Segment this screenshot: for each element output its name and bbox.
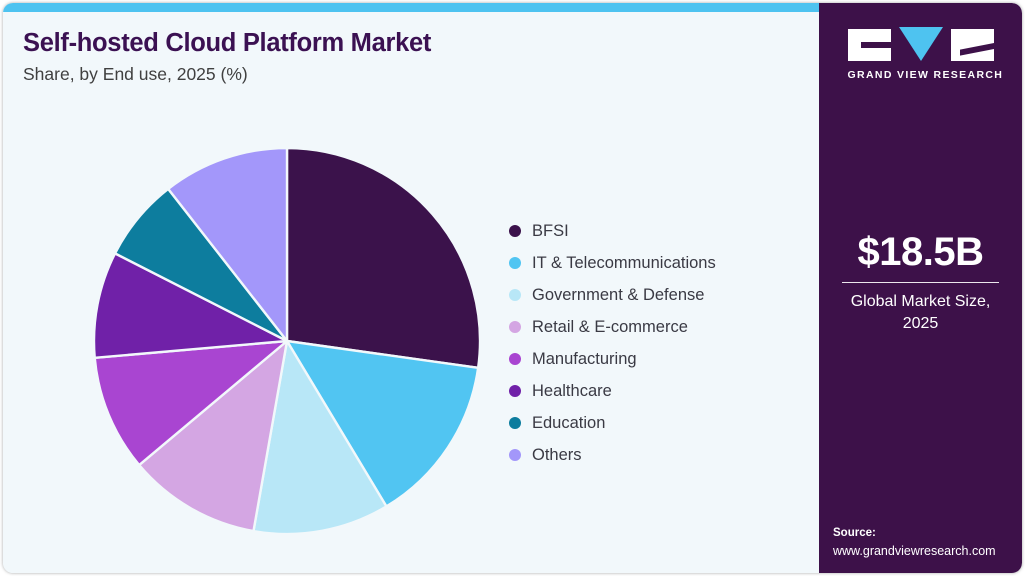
pie-slice[interactable]	[287, 148, 480, 368]
brand-panel: GRAND VIEW RESEARCH $18.5B Global Market…	[819, 3, 1022, 573]
legend-swatch-icon	[509, 385, 521, 397]
legend-swatch-icon	[509, 225, 521, 237]
legend-item-label: IT & Telecommunications	[532, 254, 716, 273]
logo-letter-g-icon	[848, 29, 891, 61]
legend-item-label: Manufacturing	[532, 350, 637, 369]
chart-legend: BFSIIT & TelecommunicationsGovernment & …	[509, 215, 809, 471]
source-label: Source:	[833, 525, 996, 542]
accent-top-bar	[3, 3, 819, 12]
legend-item[interactable]: IT & Telecommunications	[509, 247, 809, 279]
legend-item-label: Retail & E-commerce	[532, 318, 688, 337]
legend-item-label: Education	[532, 414, 605, 433]
legend-item[interactable]: Healthcare	[509, 375, 809, 407]
legend-swatch-icon	[509, 321, 521, 333]
legend-item[interactable]: Others	[509, 439, 809, 471]
gvr-logo: GRAND VIEW RESEARCH	[848, 29, 994, 81]
brand-name: GRAND VIEW RESEARCH	[848, 69, 994, 81]
legend-swatch-icon	[509, 417, 521, 429]
source-url[interactable]: www.grandviewresearch.com	[833, 542, 996, 560]
legend-item-label: BFSI	[532, 222, 569, 241]
legend-item[interactable]: Government & Defense	[509, 279, 809, 311]
infographic-card: Self-hosted Cloud Platform Market Share,…	[3, 3, 1022, 573]
page-title: Self-hosted Cloud Platform Market	[23, 29, 431, 58]
legend-item-label: Healthcare	[532, 382, 612, 401]
legend-swatch-icon	[509, 289, 521, 301]
market-size-stat: $18.5B Global Market Size, 2025	[819, 231, 1022, 334]
legend-item[interactable]: Education	[509, 407, 809, 439]
market-size-value: $18.5B	[833, 231, 1008, 273]
legend-item-label: Others	[532, 446, 582, 465]
legend-item-label: Government & Defense	[532, 286, 704, 305]
legend-item[interactable]: Manufacturing	[509, 343, 809, 375]
legend-item[interactable]: BFSI	[509, 215, 809, 247]
legend-swatch-icon	[509, 257, 521, 269]
chart-panel: Self-hosted Cloud Platform Market Share,…	[3, 12, 819, 573]
stat-divider	[842, 282, 999, 283]
pie-slice-group	[94, 148, 480, 534]
legend-item[interactable]: Retail & E-commerce	[509, 311, 809, 343]
logo-marks	[848, 29, 994, 61]
logo-triangle-v-icon	[899, 27, 943, 61]
market-size-caption: Global Market Size, 2025	[833, 291, 1008, 334]
pie-chart-svg	[91, 145, 483, 537]
legend-swatch-icon	[509, 449, 521, 461]
source-block: Source: www.grandviewresearch.com	[833, 525, 996, 560]
page-subtitle: Share, by End use, 2025 (%)	[23, 64, 248, 85]
legend-swatch-icon	[509, 353, 521, 365]
pie-chart	[91, 145, 483, 537]
logo-letter-r-icon	[951, 29, 994, 61]
chart-card-root: Self-hosted Cloud Platform Market Share,…	[0, 0, 1025, 576]
